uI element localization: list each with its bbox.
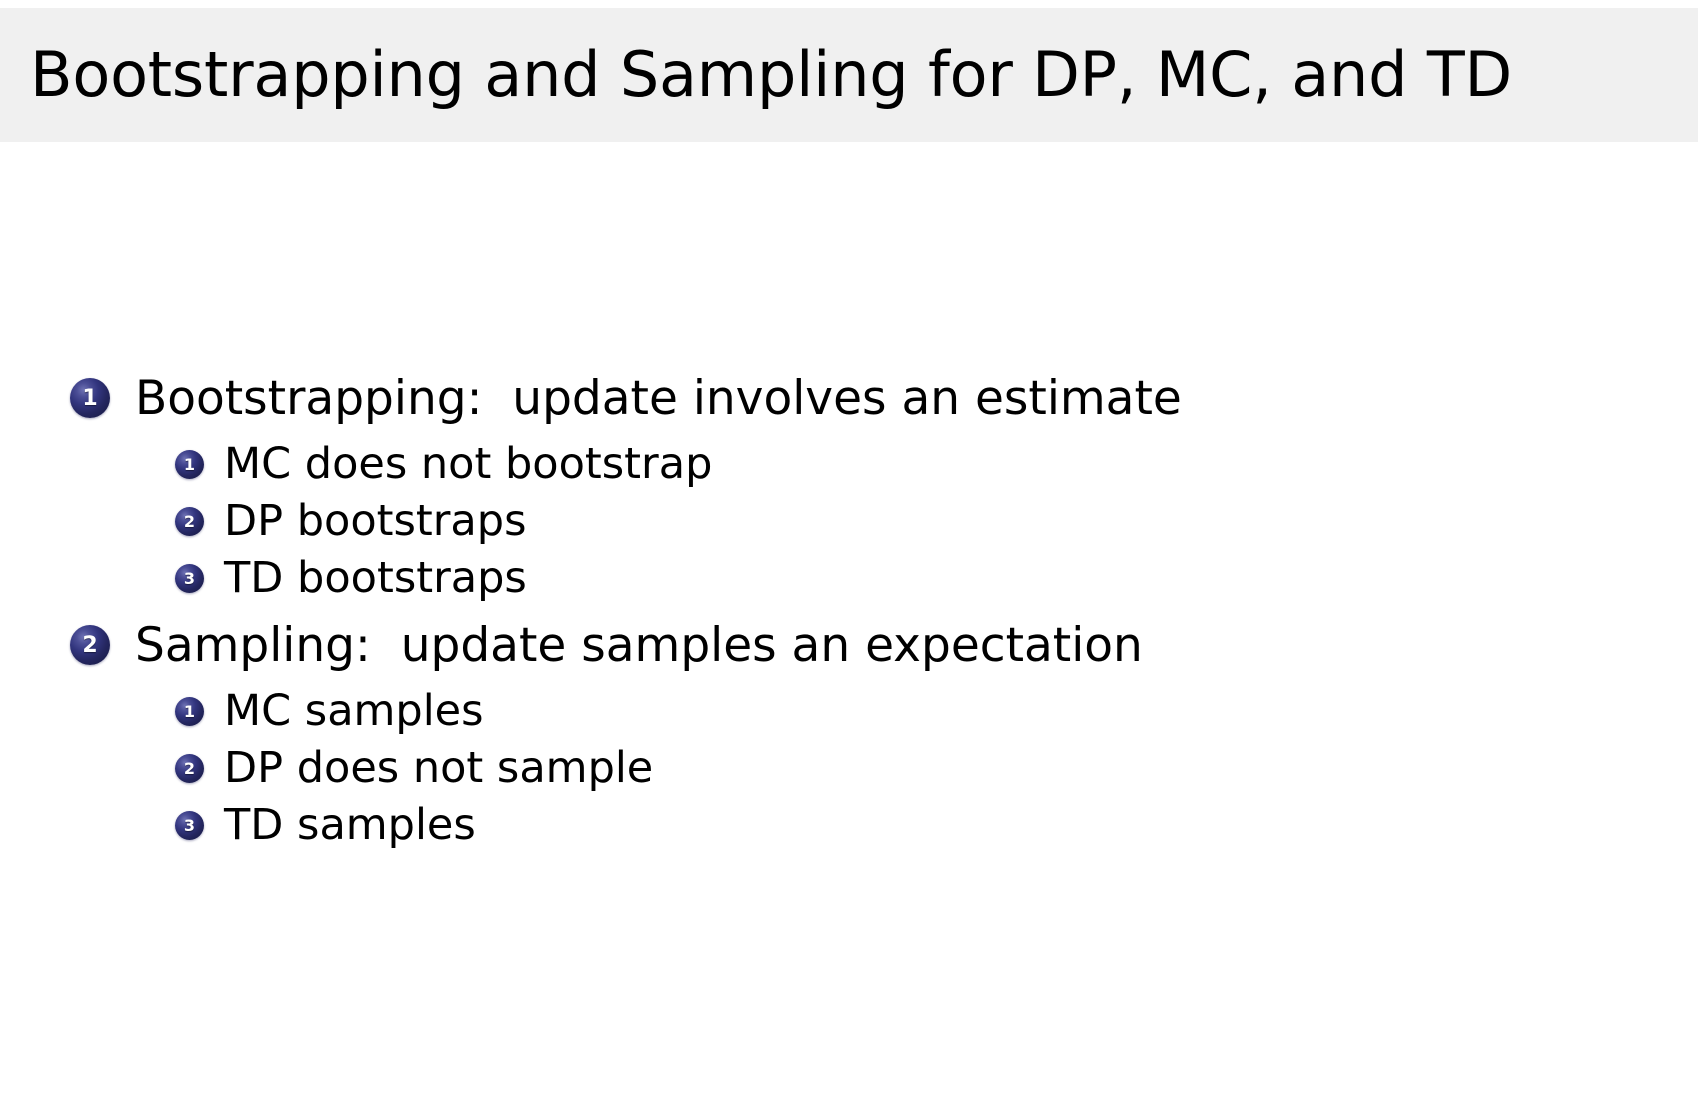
enumerate-badge-icon: 2 bbox=[70, 625, 110, 665]
enumerate-badge-number: 1 bbox=[82, 386, 97, 411]
outline-subitem: 3 TD bootstraps bbox=[175, 550, 1570, 607]
enumerate-badge-icon: 1 bbox=[175, 450, 204, 479]
outline-item-row: 2 Sampling: update samples an expectatio… bbox=[70, 619, 1570, 671]
enumerate-badge-icon: 3 bbox=[175, 811, 204, 840]
enumerate-badge-icon: 1 bbox=[175, 697, 204, 726]
enumerate-badge-number: 2 bbox=[184, 759, 195, 778]
outline-subitem: 3 TD samples bbox=[175, 797, 1570, 854]
outline-subitem-label: TD bootstraps bbox=[224, 557, 527, 600]
enumerate-badge-icon: 3 bbox=[175, 564, 204, 593]
outline-subitem-label: DP does not sample bbox=[224, 747, 653, 790]
outline-sublist: 1 MC does not bootstrap 2 DP bootstraps … bbox=[175, 436, 1570, 607]
enumerate-badge-number: 3 bbox=[184, 569, 195, 588]
outline-subitem: 2 DP does not sample bbox=[175, 740, 1570, 797]
slide-body: 1 Bootstrapping: update involves an esti… bbox=[0, 142, 1698, 1106]
outline-subitem-label: MC samples bbox=[224, 690, 484, 733]
outline-item: 1 Bootstrapping: update involves an esti… bbox=[70, 372, 1570, 607]
enumerate-badge-number: 3 bbox=[184, 816, 195, 835]
outline-item-label: Bootstrapping: update involves an estima… bbox=[135, 375, 1182, 422]
outline-subitem-label: DP bootstraps bbox=[224, 500, 526, 543]
enumerate-badge-number: 2 bbox=[82, 633, 97, 658]
enumerate-badge-number: 2 bbox=[184, 512, 195, 531]
enumerate-badge-icon: 1 bbox=[70, 378, 110, 418]
outline-list: 1 Bootstrapping: update involves an esti… bbox=[70, 372, 1570, 866]
enumerate-badge-number: 1 bbox=[184, 702, 195, 721]
outline-subitem: 2 DP bootstraps bbox=[175, 493, 1570, 550]
outline-item-row: 1 Bootstrapping: update involves an esti… bbox=[70, 372, 1570, 424]
outline-sublist: 1 MC samples 2 DP does not sample 3 bbox=[175, 683, 1570, 854]
outline-item: 2 Sampling: update samples an expectatio… bbox=[70, 619, 1570, 854]
outline-subitem-label: TD samples bbox=[224, 804, 476, 847]
enumerate-badge-icon: 2 bbox=[175, 507, 204, 536]
presentation-slide: Bootstrapping and Sampling for DP, MC, a… bbox=[0, 0, 1698, 1106]
outline-subitem-label: MC does not bootstrap bbox=[224, 443, 712, 486]
outline-subitem: 1 MC samples bbox=[175, 683, 1570, 740]
enumerate-badge-number: 1 bbox=[184, 455, 195, 474]
enumerate-badge-icon: 2 bbox=[175, 754, 204, 783]
slide-title: Bootstrapping and Sampling for DP, MC, a… bbox=[30, 42, 1512, 107]
slide-title-bar: Bootstrapping and Sampling for DP, MC, a… bbox=[0, 8, 1698, 142]
outline-subitem: 1 MC does not bootstrap bbox=[175, 436, 1570, 493]
outline-item-label: Sampling: update samples an expectation bbox=[135, 622, 1143, 669]
